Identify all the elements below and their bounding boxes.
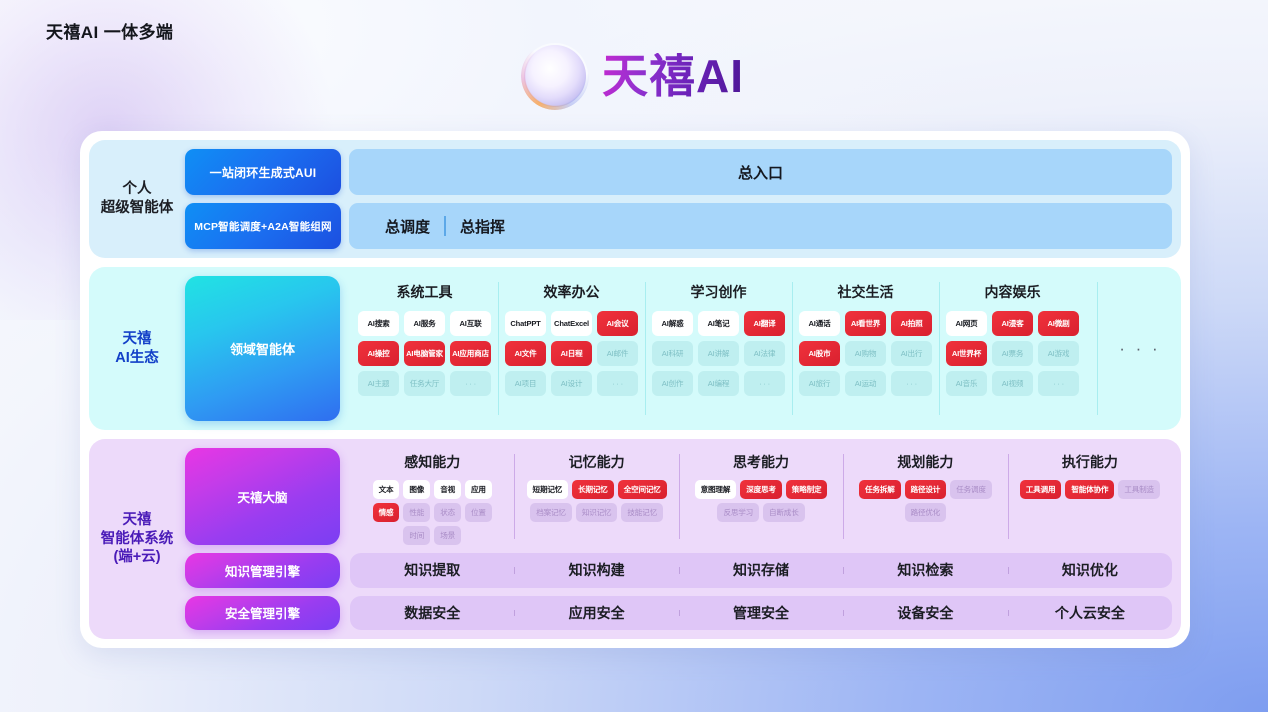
capability-chip[interactable]: 状态: [434, 503, 461, 522]
mcp-a2a-pill[interactable]: MCP智能调度+A2A智能组网: [185, 203, 341, 249]
security-cell[interactable]: 数据安全: [350, 596, 514, 631]
capability-chip-group: 工具调用智能体协作工具制造: [1020, 480, 1160, 499]
ecosystem-column-title: 学习创作: [691, 282, 747, 302]
security-cell[interactable]: 应用安全: [514, 596, 678, 631]
ecosystem-chip[interactable]: AI购物: [845, 341, 886, 366]
capability-chip[interactable]: 长期记忆: [572, 480, 614, 499]
capability-chip[interactable]: 任务调度: [950, 480, 992, 499]
ecosystem-chip-grid: AI通话AI看世界AI拍照AI股市AI购物AI出行AI旅行AI运动· · ·: [799, 311, 932, 396]
ecosystem-chip[interactable]: AI通话: [799, 311, 840, 336]
band-personal-row-2: MCP智能调度+A2A智能组网 总调度 总指挥: [185, 203, 1172, 249]
capability-chip[interactable]: 工具调用: [1020, 480, 1062, 499]
knowledge-cell[interactable]: 知识提取: [350, 553, 514, 588]
capability-chip[interactable]: 任务拆解: [859, 480, 901, 499]
ecosystem-chip[interactable]: AI笔记: [698, 311, 739, 336]
knowledge-cell[interactable]: 知识优化: [1008, 553, 1172, 588]
ecosystem-chip-grid: AI搜索AI服务AI互联AI操控AI电脑管家AI应用商店AI主题任务大厅· · …: [358, 311, 491, 396]
band-agent-system-label: 天禧 智能体系统 (端+云): [89, 448, 185, 630]
command-label: 总指挥: [460, 216, 505, 237]
ecosystem-chip[interactable]: AI应用商店: [450, 341, 491, 366]
capability-chip[interactable]: 图像: [403, 480, 430, 499]
ecosystem-chip[interactable]: · · ·: [450, 371, 491, 396]
band-personal-super-agent: 个人 超级智能体 一站闭环生成式AUI 总入口 MCP智能调度+A2A智能组网 …: [89, 140, 1181, 258]
security-cell[interactable]: 个人云安全: [1008, 596, 1172, 631]
ecosystem-chip-grid: ChatPPTChatExcelAI会议AI文件AI日程AI邮件AI项目AI设计…: [505, 311, 638, 396]
ecosystem-column: 内容娱乐AI网页AI漫客AI微剧AI世界杯AI票务AI游戏AI音乐AI视频· ·…: [939, 276, 1086, 421]
capability-chip[interactable]: 路径优化: [905, 503, 947, 522]
aui-pill[interactable]: 一站闭环生成式AUI: [185, 149, 341, 195]
knowledge-engine-box[interactable]: 知识管理引擎: [185, 553, 340, 588]
knowledge-cell[interactable]: 知识检索: [843, 553, 1007, 588]
capability-chip[interactable]: 工具制造: [1118, 480, 1160, 499]
ecosystem-chip[interactable]: AI项目: [505, 371, 546, 396]
ecosystem-chip[interactable]: AI互联: [450, 311, 491, 336]
ecosystem-chip[interactable]: AI世界杯: [946, 341, 987, 366]
band-agent-label-line1: 天禧: [123, 512, 152, 528]
ecosystem-chip[interactable]: 任务大厅: [404, 371, 445, 396]
knowledge-cell[interactable]: 知识存储: [679, 553, 843, 588]
ecosystem-chip[interactable]: AI编程: [698, 371, 739, 396]
sphere-logo-icon: [524, 45, 586, 107]
capability-chip[interactable]: 时间: [403, 526, 430, 545]
band-agent-label-line3: (端+云): [113, 549, 160, 565]
ecosystem-chip[interactable]: AI股市: [799, 341, 840, 366]
capability-chip[interactable]: 意图理解: [695, 480, 737, 499]
ecosystem-chip[interactable]: AI科研: [652, 341, 693, 366]
brand-lockup: 天禧AI: [0, 45, 1268, 107]
capability-chip[interactable]: 情感: [373, 503, 400, 522]
capability-chip[interactable]: 深度思考: [740, 480, 782, 499]
capability-column: 执行能力工具调用智能体协作工具制造: [1008, 448, 1172, 545]
ecosystem-chip[interactable]: AI拍照: [891, 311, 932, 336]
band-personal-label-line1: 个人: [123, 181, 152, 197]
capability-chip[interactable]: 策略制定: [786, 480, 828, 499]
divider-icon: [444, 216, 446, 236]
capability-chip[interactable]: 文本: [373, 480, 400, 499]
knowledge-engine-row: 知识管理引擎 知识提取知识构建知识存储知识检索知识优化: [185, 553, 1172, 588]
band-ecosystem-label-line2: AI生态: [115, 350, 159, 366]
dispatch-bar[interactable]: 总调度 总指挥: [349, 203, 1172, 249]
capability-chip[interactable]: 位置: [465, 503, 492, 522]
capability-chip[interactable]: 短期记忆: [527, 480, 569, 499]
capability-chip-group: 任务拆解路径设计任务调度路径优化: [851, 480, 999, 522]
capability-column: 规划能力任务拆解路径设计任务调度路径优化: [843, 448, 1007, 545]
ecosystem-chip[interactable]: AI操控: [358, 341, 399, 366]
ecosystem-column: 效率办公ChatPPTChatExcelAI会议AI文件AI日程AI邮件AI项目…: [498, 276, 645, 421]
brand-title: 天禧AI: [602, 53, 744, 99]
security-cell[interactable]: 管理安全: [679, 596, 843, 631]
capability-chip[interactable]: 音视: [434, 480, 461, 499]
ecosystem-column-title: 效率办公: [544, 282, 600, 302]
brain-box[interactable]: 天禧大脑: [185, 448, 340, 545]
capability-column: 记忆能力短期记忆长期记忆全空间记忆档案记忆知识记忆技能记忆: [514, 448, 678, 545]
ecosystem-column: 社交生活AI通话AI看世界AI拍照AI股市AI购物AI出行AI旅行AI运动· ·…: [792, 276, 939, 421]
capability-columns: 感知能力文本图像音视应用情感性能状态位置时间场景记忆能力短期记忆长期记忆全空间记…: [350, 448, 1172, 545]
ecosystem-chip[interactable]: AI设计: [551, 371, 592, 396]
ecosystem-chip[interactable]: AI出行: [891, 341, 932, 366]
capability-chip[interactable]: 技能记忆: [621, 503, 663, 522]
capability-chip[interactable]: 路径设计: [905, 480, 947, 499]
capability-column-title: 记忆能力: [569, 452, 625, 472]
capability-chip[interactable]: 场景: [434, 526, 461, 545]
capability-chip[interactable]: 反思学习: [717, 503, 759, 522]
brain-row: 天禧大脑 感知能力文本图像音视应用情感性能状态位置时间场景记忆能力短期记忆长期记…: [185, 448, 1172, 545]
ecosystem-more[interactable]: · · ·: [1097, 276, 1183, 421]
security-engine-box[interactable]: 安全管理引擎: [185, 596, 340, 631]
band-ecosystem-label: 天禧 AI生态: [89, 276, 185, 421]
band-agent-label-line2: 智能体系统: [101, 531, 174, 547]
ecosystem-chip[interactable]: · · ·: [1038, 371, 1079, 396]
ecosystem-chip[interactable]: AI运动: [845, 371, 886, 396]
capability-chip[interactable]: 应用: [465, 480, 492, 499]
ecosystem-column: 系统工具AI搜索AI服务AI互联AI操控AI电脑管家AI应用商店AI主题任务大厅…: [351, 276, 498, 421]
architecture-card: 个人 超级智能体 一站闭环生成式AUI 总入口 MCP智能调度+A2A智能组网 …: [80, 131, 1190, 648]
ecosystem-chip[interactable]: AI邮件: [597, 341, 638, 366]
ecosystem-chip[interactable]: ChatPPT: [505, 311, 546, 336]
capability-chip-group: 短期记忆长期记忆全空间记忆档案记忆知识记忆技能记忆: [522, 480, 670, 522]
capability-chip[interactable]: 知识记忆: [576, 503, 618, 522]
band-ai-ecosystem: 天禧 AI生态 领域智能体 系统工具AI搜索AI服务AI互联AI操控AI电脑管家…: [89, 267, 1181, 430]
entry-bar[interactable]: 总入口: [349, 149, 1172, 195]
ecosystem-chip[interactable]: AI翻译: [744, 311, 785, 336]
ecosystem-chip-grid: AI网页AI漫客AI微剧AI世界杯AI票务AI游戏AI音乐AI视频· · ·: [946, 311, 1079, 396]
ecosystem-column-title: 社交生活: [838, 282, 894, 302]
capability-chip[interactable]: 全空间记忆: [618, 480, 667, 499]
ecosystem-column-title: 内容娱乐: [985, 282, 1041, 302]
ecosystem-chip[interactable]: AI解惑: [652, 311, 693, 336]
capability-chip-group: 意图理解深度思考策略制定反思学习自断成长: [687, 480, 835, 522]
capability-chip[interactable]: 自断成长: [763, 503, 805, 522]
ecosystem-chip[interactable]: AI讲解: [698, 341, 739, 366]
ecosystem-column: 学习创作AI解惑AI笔记AI翻译AI科研AI讲解AI法律AI创作AI编程· · …: [645, 276, 792, 421]
ecosystem-chip[interactable]: · · ·: [597, 371, 638, 396]
band-personal-label: 个人 超级智能体: [89, 149, 185, 249]
knowledge-cell[interactable]: 知识构建: [514, 553, 678, 588]
ecosystem-chip[interactable]: AI服务: [404, 311, 445, 336]
capability-chip[interactable]: 智能体协作: [1065, 480, 1114, 499]
knowledge-cells: 知识提取知识构建知识存储知识检索知识优化: [350, 553, 1172, 588]
security-cell[interactable]: 设备安全: [843, 596, 1007, 631]
capability-chip[interactable]: 性能: [403, 503, 430, 522]
capability-column: 感知能力文本图像音视应用情感性能状态位置时间场景: [350, 448, 514, 545]
band-personal-label-line2: 超级智能体: [101, 200, 174, 216]
ecosystem-chip[interactable]: AI票务: [992, 341, 1033, 366]
ecosystem-chip[interactable]: AI日程: [551, 341, 592, 366]
capability-chip[interactable]: 档案记忆: [530, 503, 572, 522]
ecosystem-chip[interactable]: AI电脑管家: [404, 341, 445, 366]
ecosystem-chip-grid: AI解惑AI笔记AI翻译AI科研AI讲解AI法律AI创作AI编程· · ·: [652, 311, 785, 396]
ecosystem-chip[interactable]: AI漫客: [992, 311, 1033, 336]
ecosystem-chip[interactable]: AI搜索: [358, 311, 399, 336]
capability-column-title: 感知能力: [404, 452, 460, 472]
ecosystem-chip[interactable]: AI网页: [946, 311, 987, 336]
capability-column: 思考能力意图理解深度思考策略制定反思学习自断成长: [679, 448, 843, 545]
capability-column-title: 规划能力: [897, 452, 953, 472]
domain-agent-box[interactable]: 领域智能体: [185, 276, 340, 421]
ecosystem-chip[interactable]: AI微剧: [1038, 311, 1079, 336]
ecosystem-column-title: 系统工具: [397, 282, 453, 302]
capability-chip-group: 文本图像音视应用情感性能状态位置时间场景: [358, 480, 506, 545]
ecosystem-chip[interactable]: AI旅行: [799, 371, 840, 396]
capability-column-title: 思考能力: [733, 452, 789, 472]
security-cells: 数据安全应用安全管理安全设备安全个人云安全: [350, 596, 1172, 631]
ecosystem-chip[interactable]: AI会议: [597, 311, 638, 336]
ecosystem-chip[interactable]: AI视频: [992, 371, 1033, 396]
band-agent-system: 天禧 智能体系统 (端+云) 天禧大脑 感知能力文本图像音视应用情感性能状态位置…: [89, 439, 1181, 639]
ecosystem-chip[interactable]: AI主题: [358, 371, 399, 396]
ecosystem-chip[interactable]: AI音乐: [946, 371, 987, 396]
ecosystem-chip[interactable]: AI文件: [505, 341, 546, 366]
ecosystem-chip[interactable]: AI看世界: [845, 311, 886, 336]
ecosystem-chip[interactable]: · · ·: [744, 371, 785, 396]
capability-column-title: 执行能力: [1062, 452, 1118, 472]
ecosystem-chip[interactable]: · · ·: [891, 371, 932, 396]
band-ecosystem-label-line1: 天禧: [123, 331, 152, 347]
band-personal-row-1: 一站闭环生成式AUI 总入口: [185, 149, 1172, 195]
ecosystem-chip[interactable]: ChatExcel: [551, 311, 592, 336]
ecosystem-chip[interactable]: AI法律: [744, 341, 785, 366]
ecosystem-chip[interactable]: AI创作: [652, 371, 693, 396]
dispatch-label: 总调度: [385, 216, 430, 237]
ecosystem-chip[interactable]: AI游戏: [1038, 341, 1079, 366]
page-title: 天禧AI 一体多端: [46, 18, 173, 43]
ecosystem-columns: 系统工具AI搜索AI服务AI互联AI操控AI电脑管家AI应用商店AI主题任务大厅…: [351, 276, 1086, 421]
security-engine-row: 安全管理引擎 数据安全应用安全管理安全设备安全个人云安全: [185, 596, 1172, 631]
